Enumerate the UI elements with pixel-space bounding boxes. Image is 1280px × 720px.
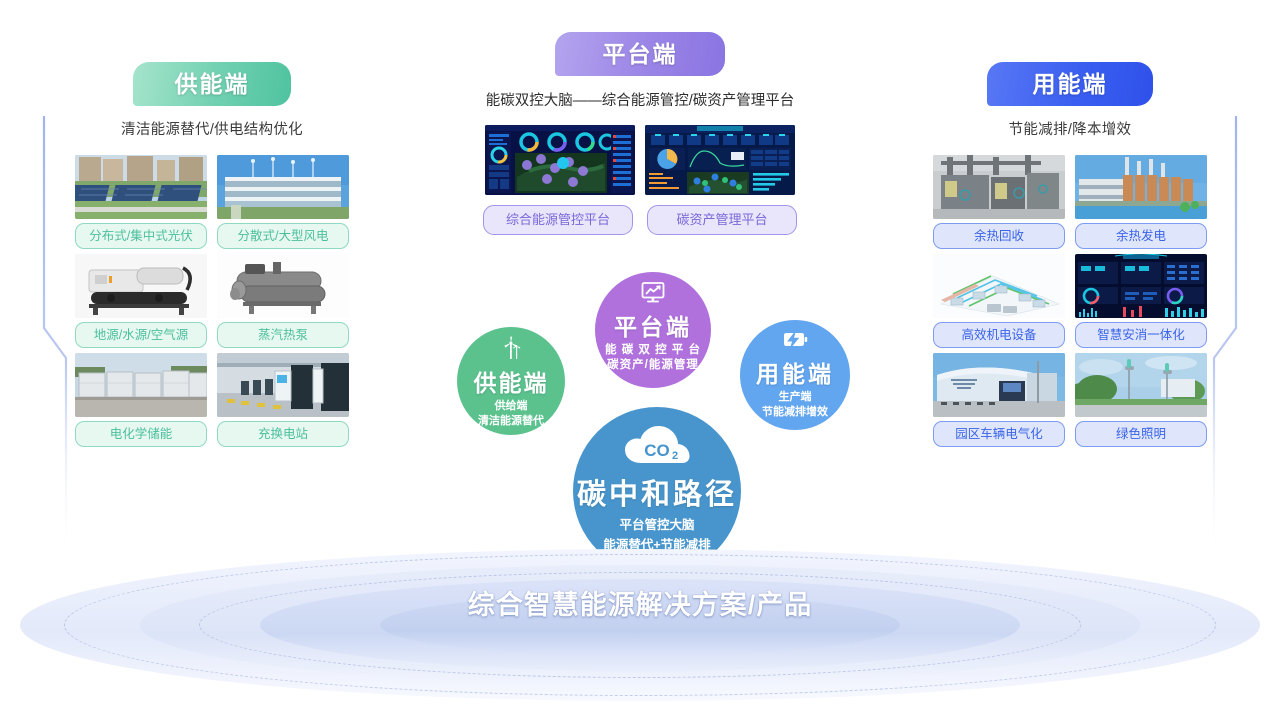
platform-button-carbon-asset[interactable]: 碳资产管理平台 bbox=[647, 205, 797, 235]
use-item[interactable]: 园区车辆电气化 bbox=[933, 353, 1065, 447]
supply-subtitle: 清洁能源替代/供电结构优化 bbox=[62, 118, 362, 139]
use-item-label: 绿色照明 bbox=[1075, 421, 1207, 447]
supply-item-label: 分散式/大型风电 bbox=[217, 223, 349, 249]
use-badge: 用能端 bbox=[987, 62, 1153, 106]
use-item[interactable]: 高效机电设备 bbox=[933, 254, 1065, 348]
use-subtitle: 节能减排/降本增效 bbox=[920, 118, 1220, 139]
supply-item[interactable]: 分散式/大型风电 bbox=[217, 155, 349, 249]
platform-dashboards bbox=[440, 125, 840, 195]
supply-column: 供能端 清洁能源替代/供电结构优化 分布式/集中式光伏 分散式/大型风电 地源/… bbox=[62, 62, 362, 447]
bottom-banner-title: 综合智慧能源解决方案/产品 bbox=[0, 583, 1280, 622]
platform-button-energy-control[interactable]: 综合能源管控平台 bbox=[483, 205, 633, 235]
supply-item-label: 地源/水源/空气源 bbox=[75, 322, 207, 348]
supply-item-label: 电化学储能 bbox=[75, 421, 207, 447]
battery-bolt-icon bbox=[780, 329, 810, 356]
platform-badge: 平台端 bbox=[555, 32, 725, 76]
svg-text:2: 2 bbox=[672, 450, 678, 462]
supply-items-grid: 分布式/集中式光伏 分散式/大型风电 地源/水源/空气源 蒸汽热泵 bbox=[62, 155, 362, 447]
electromechanical-equipment-diagram bbox=[933, 254, 1065, 318]
use-item-label: 余热发电 bbox=[1075, 223, 1207, 249]
use-item[interactable]: 绿色照明 bbox=[1075, 353, 1207, 447]
waste-heat-recovery-unit-photo bbox=[933, 155, 1065, 219]
circle-supply-line2: 清洁能源替代 bbox=[478, 415, 544, 428]
use-item-label: 园区车辆电气化 bbox=[933, 421, 1065, 447]
platform-column: 平台端 能碳双控大脑——综合能源管控/碳资产管理平台 bbox=[440, 32, 840, 235]
svg-text:CO: CO bbox=[644, 441, 670, 460]
waste-heat-power-plant-photo bbox=[1075, 155, 1207, 219]
ev-charging-swap-station-photo bbox=[217, 353, 349, 417]
supply-item[interactable]: 电化学储能 bbox=[75, 353, 207, 447]
supply-item-label: 分布式/集中式光伏 bbox=[75, 223, 207, 249]
platform-subtitle: 能碳双控大脑——综合能源管控/碳资产管理平台 bbox=[440, 89, 840, 110]
supply-item-label: 充换电站 bbox=[217, 421, 349, 447]
co2-cloud-icon: CO 2 bbox=[621, 423, 693, 470]
supply-item[interactable]: 地源/水源/空气源 bbox=[75, 254, 207, 348]
supply-badge: 供能端 bbox=[133, 62, 291, 106]
rooftop-wind-turbines-photo bbox=[217, 155, 349, 219]
use-item-label: 余热回收 bbox=[933, 223, 1065, 249]
safety-fire-dashboard-photo bbox=[1075, 254, 1207, 318]
circle-supply-line1: 供给端 bbox=[495, 400, 528, 413]
circle-platform-side[interactable]: 平台端 能 碳 双 控 平 台 碳资产/能源管理 bbox=[595, 272, 711, 388]
platform-buttons: 综合能源管控平台 碳资产管理平台 bbox=[440, 205, 840, 235]
use-item-label: 高效机电设备 bbox=[933, 322, 1065, 348]
circle-supply-title: 供能端 bbox=[474, 364, 549, 398]
monitor-chart-icon bbox=[638, 281, 668, 310]
use-column: 用能端 节能减排/降本增效 余热回收 余热发电 高效机电设备 bbox=[920, 62, 1220, 447]
solar-farm-photo bbox=[75, 155, 207, 219]
park-vehicle-electrification-photo bbox=[933, 353, 1065, 417]
circle-carbon-title: 碳中和路径 bbox=[577, 471, 737, 513]
bottom-ripple-base bbox=[0, 545, 1280, 705]
use-items-grid: 余热回收 余热发电 高效机电设备 智慧安消一体化 bbox=[920, 155, 1220, 447]
use-item[interactable]: 智慧安消一体化 bbox=[1075, 254, 1207, 348]
carbon-asset-management-dashboard[interactable] bbox=[645, 125, 795, 195]
wind-turbine-icon bbox=[496, 336, 526, 365]
infographic-canvas: 供能端 清洁能源替代/供电结构优化 分布式/集中式光伏 分散式/大型风电 地源/… bbox=[0, 0, 1280, 720]
battery-storage-containers-photo bbox=[75, 353, 207, 417]
circle-platform-line2: 碳资产/能源管理 bbox=[607, 358, 699, 372]
circle-platform-title: 平台端 bbox=[614, 308, 692, 342]
supply-item[interactable]: 蒸汽热泵 bbox=[217, 254, 349, 348]
circle-use-side[interactable]: 用能端 生产端 节能减排增效 bbox=[740, 320, 850, 430]
integrated-energy-control-dashboard[interactable] bbox=[485, 125, 635, 195]
supply-item[interactable]: 分布式/集中式光伏 bbox=[75, 155, 207, 249]
circle-carbon-line1: 平台管控大脑 bbox=[619, 518, 694, 533]
use-item[interactable]: 余热回收 bbox=[933, 155, 1065, 249]
heat-pump-chiller-photo bbox=[75, 254, 207, 318]
use-item-label: 智慧安消一体化 bbox=[1075, 322, 1207, 348]
circle-platform-line1: 能 碳 双 控 平 台 bbox=[605, 343, 701, 357]
supply-item[interactable]: 充换电站 bbox=[217, 353, 349, 447]
green-street-lighting-photo bbox=[1075, 353, 1207, 417]
steam-heat-pump-photo bbox=[217, 254, 349, 318]
use-item[interactable]: 余热发电 bbox=[1075, 155, 1207, 249]
circle-use-line2: 节能减排增效 bbox=[762, 406, 828, 419]
circle-use-title: 用能端 bbox=[756, 355, 834, 389]
supply-item-label: 蒸汽热泵 bbox=[217, 322, 349, 348]
circle-supply-side[interactable]: 供能端 供给端 清洁能源替代 bbox=[457, 327, 565, 435]
circle-use-line1: 生产端 bbox=[779, 391, 812, 404]
